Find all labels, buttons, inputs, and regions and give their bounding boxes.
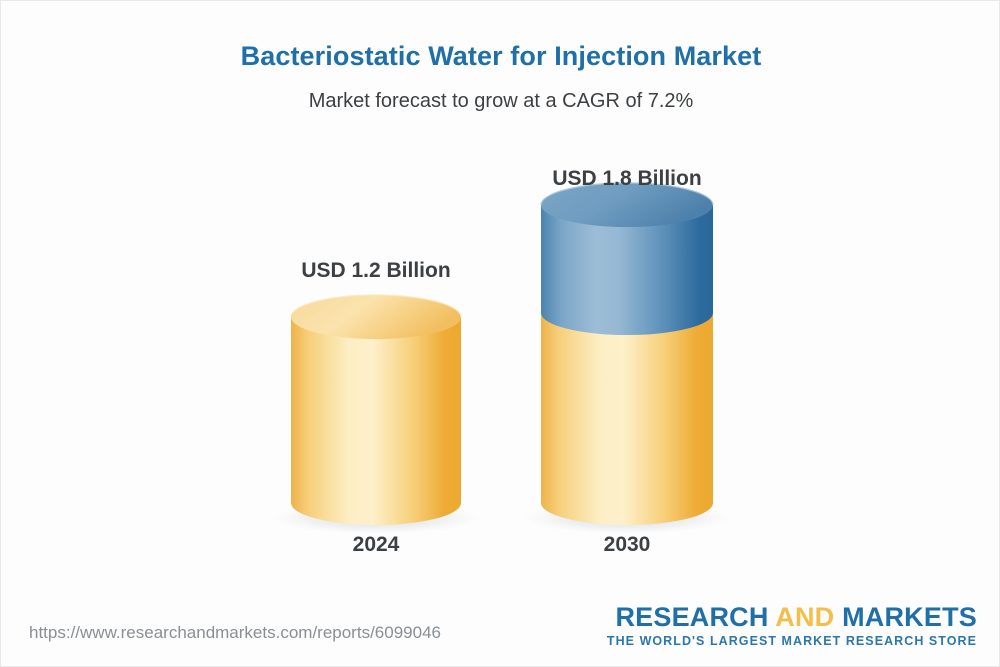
bar-2024-value-label: USD 1.2 Billion bbox=[276, 259, 476, 283]
logo-and-text: AND bbox=[775, 602, 834, 632]
bar-2024-category-label: 2024 bbox=[276, 533, 476, 557]
bar-2030[interactable] bbox=[523, 183, 731, 534]
bar-chart-plot bbox=[1, 1, 1000, 601]
research-and-markets-logo[interactable]: RESEARCH AND MARKETS THE WORLD'S LARGEST… bbox=[607, 603, 977, 648]
logo-tagline: THE WORLD'S LARGEST MARKET RESEARCH STOR… bbox=[607, 634, 977, 648]
logo-markets-text: MARKETS bbox=[842, 602, 977, 632]
logo-research-text: RESEARCH bbox=[615, 602, 768, 632]
source-url[interactable]: https://www.researchandmarkets.com/repor… bbox=[29, 623, 441, 643]
chart-canvas: Bacteriostatic Water for Injection Marke… bbox=[0, 0, 1000, 667]
bar-2030-value-label: USD 1.8 Billion bbox=[527, 167, 727, 191]
logo-wordmark: RESEARCH AND MARKETS bbox=[607, 603, 977, 631]
bar-2030-category-label: 2030 bbox=[527, 533, 727, 557]
bar-2024-body bbox=[291, 317, 461, 525]
bar-2030-base-segment bbox=[541, 314, 713, 525]
bar-2024[interactable] bbox=[272, 295, 480, 534]
